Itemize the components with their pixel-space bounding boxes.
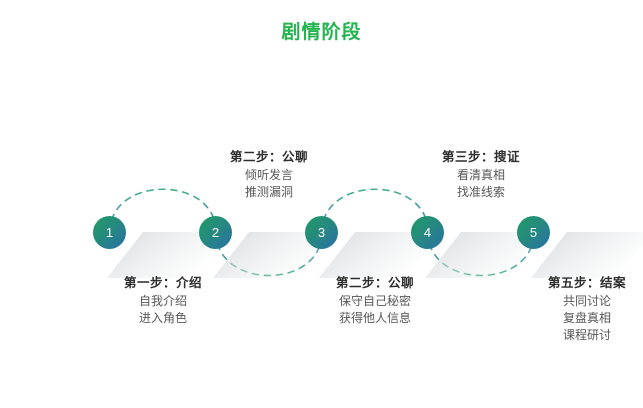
step-label-5: 第五步：结案 共同讨论 复盘真相 课程研讨 — [492, 274, 643, 344]
page-title: 剧情阶段 — [0, 20, 643, 46]
step-2-line-2: 推测漏洞 — [174, 184, 364, 201]
step-3-heading: 第二步：公聊 — [280, 274, 470, 293]
step-1-line-1: 自我介绍 — [68, 293, 258, 310]
step-node-1[interactable]: 1 — [93, 216, 126, 249]
step-node-5[interactable]: 5 — [517, 216, 550, 249]
step-label-2: 第二步：公聊 倾听发言 推测漏洞 — [174, 148, 364, 201]
step-label-4: 第三步：搜证 看清真相 找准线索 — [386, 148, 576, 201]
step-3-line-1: 保守自己秘密 — [280, 293, 470, 310]
step-5-line-1: 共同讨论 — [492, 293, 643, 310]
step-node-2[interactable]: 2 — [199, 216, 232, 249]
step-2-heading: 第二步：公聊 — [174, 148, 364, 167]
slide-canvas: 剧情阶段 1 2 3 4 5 第一步：介绍 自我介绍 进入角色 第 — [0, 0, 643, 408]
step-4-line-1: 看清真相 — [386, 167, 576, 184]
step-label-1: 第一步：介绍 自我介绍 进入角色 — [68, 274, 258, 327]
step-node-4[interactable]: 4 — [411, 216, 444, 249]
step-4-heading: 第三步：搜证 — [386, 148, 576, 167]
step-1-line-2: 进入角色 — [68, 310, 258, 327]
step-4-line-2: 找准线索 — [386, 184, 576, 201]
step-1-heading: 第一步：介绍 — [68, 274, 258, 293]
step-5-line-3: 课程研讨 — [492, 327, 643, 344]
step-node-3[interactable]: 3 — [305, 216, 338, 249]
connector-wave — [0, 0, 643, 408]
step-3-line-2: 获得他人信息 — [280, 310, 470, 327]
step-5-line-2: 复盘真相 — [492, 310, 643, 327]
step-label-3: 第二步：公聊 保守自己秘密 获得他人信息 — [280, 274, 470, 327]
step-5-heading: 第五步：结案 — [492, 274, 643, 293]
step-2-line-1: 倾听发言 — [174, 167, 364, 184]
